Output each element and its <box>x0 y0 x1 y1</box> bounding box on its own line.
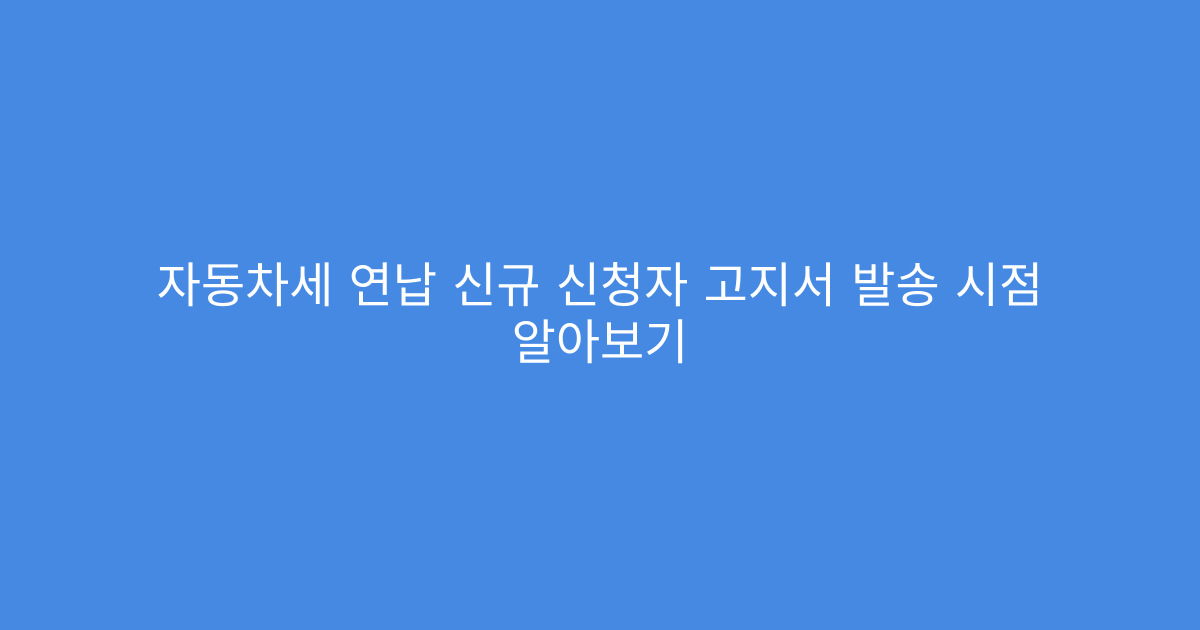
banner-title: 자동차세 연납 신규 신청자 고지서 발송 시점 알아보기 <box>120 258 1080 372</box>
banner-title-block: 자동차세 연납 신규 신청자 고지서 발송 시점 알아보기 <box>120 258 1080 372</box>
og-banner-card: 자동차세 연납 신규 신청자 고지서 발송 시점 알아보기 <box>0 0 1200 630</box>
